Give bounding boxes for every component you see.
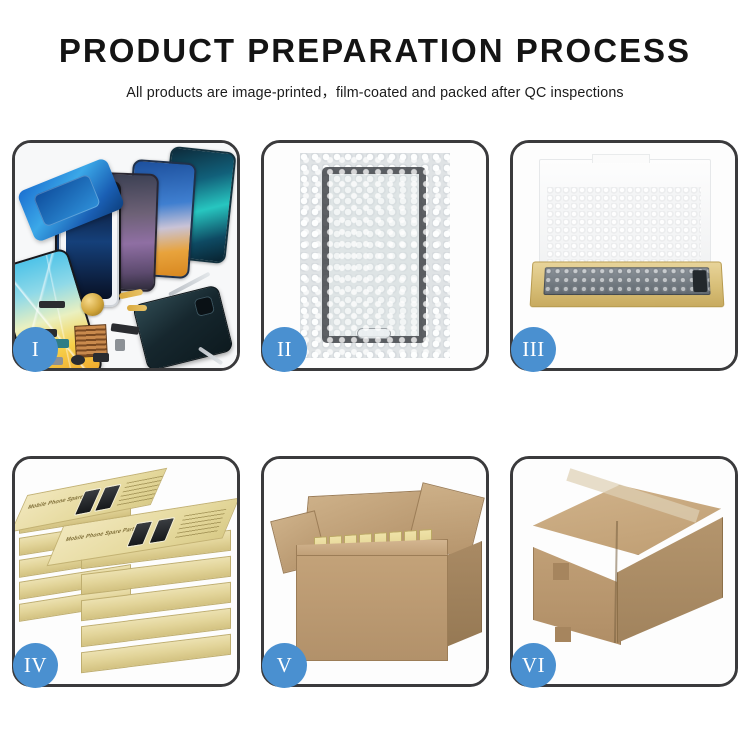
carton-tab-upper — [553, 563, 569, 580]
step-badge-6: VI — [511, 643, 556, 688]
flex-cable-2 — [127, 305, 147, 311]
small-part-metal-1 — [115, 339, 125, 351]
step-panel-6: VI — [510, 456, 738, 687]
product-preparation-infographic: PRODUCT PREPARATION PROCESS All products… — [0, 0, 750, 750]
small-part-connector-5 — [93, 353, 109, 362]
sealed-carton-left-face — [533, 531, 621, 645]
small-part-connector-1 — [39, 301, 65, 308]
gold-coil-part — [81, 293, 104, 316]
step-panel-1: I — [12, 140, 240, 371]
box-textlines-back — [116, 474, 167, 506]
step-panel-4: Mobile Phone Spare Parts Mobile Phone Sp… — [12, 456, 240, 687]
bubble-wrap-sheet — [300, 153, 450, 358]
step-panel-2: II — [261, 140, 489, 371]
small-part-connector-4 — [71, 355, 85, 365]
box-label-front: Mobile Phone Spare Parts — [64, 526, 138, 544]
step-badge-3: III — [511, 327, 556, 372]
page-title: PRODUCT PREPARATION PROCESS — [0, 34, 750, 69]
box-textlines-front — [175, 509, 227, 539]
step-panel-5: V — [261, 456, 489, 687]
step-panel-3: III — [510, 140, 738, 371]
step-badge-1: I — [13, 327, 58, 372]
process-steps-grid: I II III — [12, 140, 738, 687]
step-badge-4: IV — [13, 643, 58, 688]
wrapped-phone-screen — [322, 167, 426, 343]
step-badge-2: II — [262, 327, 307, 372]
carton-tab-lower — [555, 627, 571, 642]
kraft-box-tray — [530, 261, 725, 307]
carton-side-panel — [446, 541, 482, 647]
page-subtitle: All products are image-printed，film-coat… — [0, 81, 750, 102]
retail-box-stack: Mobile Phone Spare Parts Mobile Phone Sp… — [19, 467, 237, 677]
page-header: PRODUCT PREPARATION PROCESS All products… — [0, 0, 750, 102]
step-badge-5: V — [262, 643, 307, 688]
carton-front-panel — [296, 555, 448, 661]
wrapped-screen-in-box — [543, 267, 710, 295]
foam-padding — [547, 187, 701, 265]
